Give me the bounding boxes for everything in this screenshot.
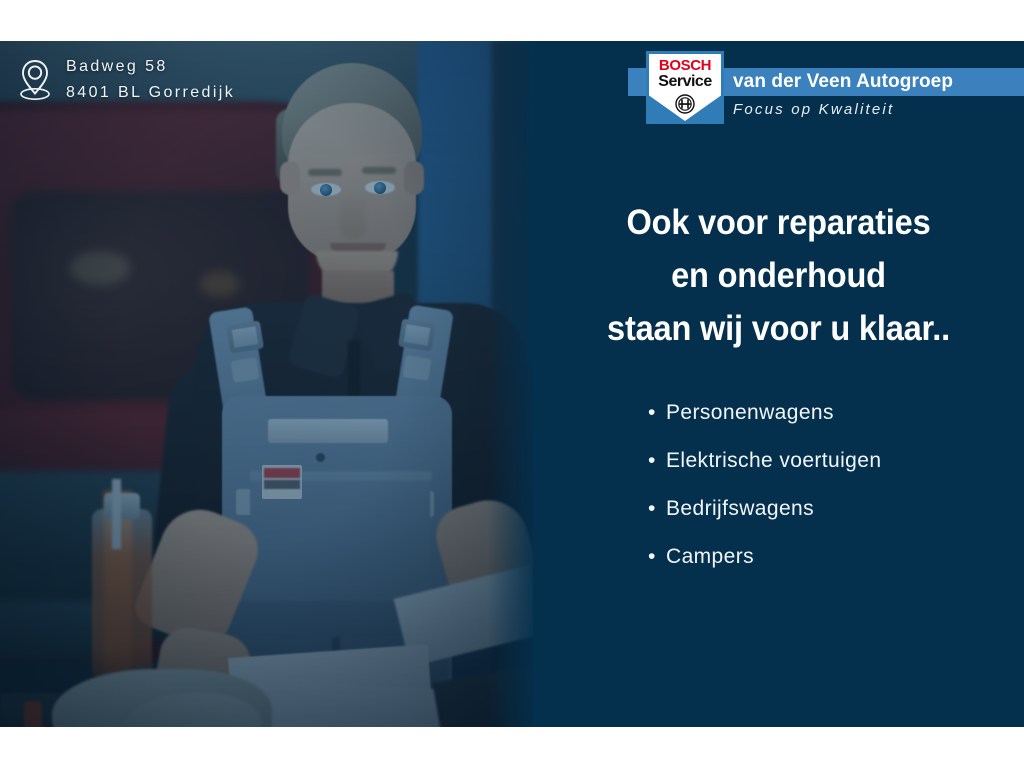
photo-right-fade [487,41,533,727]
address-line-2: 8401 BL Gorredijk [66,80,235,106]
service-label: Personenwagens [666,401,834,424]
brand-header: BOSCH Service van der Veen Autogroep Foc… [533,41,1024,133]
location-pin-icon [18,58,52,102]
bosch-wordmark: BOSCH [649,57,721,74]
services-list: •Personenwagens •Elektrische voertuigen … [648,389,881,581]
list-item: •Elektrische voertuigen [648,437,881,485]
headline-line-2: en onderhoud [550,249,1007,302]
bosch-armature-icon [675,94,695,114]
headline-line-1: Ook voor reparaties [550,196,1007,249]
list-item: •Bedrijfswagens [648,485,881,533]
service-label: Bedrijfswagens [666,497,814,520]
company-tagline: Focus op Kwaliteit [733,99,894,121]
service-label: Elektrische voertuigen [666,449,881,472]
bullet-icon: • [648,533,666,581]
address-block: Badweg 58 8401 BL Gorredijk [18,54,235,106]
headline-line-3: staan wij voor u klaar.. [550,302,1007,355]
address-lines: Badweg 58 8401 BL Gorredijk [66,54,235,106]
photo-vignette [0,41,533,727]
promo-banner: Badweg 58 8401 BL Gorredijk BOSCH Servic… [0,41,1024,727]
list-item: •Campers [648,533,881,581]
service-label: Campers [666,545,754,568]
bullet-icon: • [648,437,666,485]
bullet-icon: • [648,389,666,437]
company-name: van der Veen Autogroep [733,69,953,95]
headline: Ook voor reparaties en onderhoud staan w… [550,196,1007,355]
info-panel: BOSCH Service van der Veen Autogroep Foc… [533,41,1024,727]
banner-stage: Badweg 58 8401 BL Gorredijk BOSCH Servic… [0,0,1024,768]
bosch-service-text: Service [649,73,721,91]
list-item: •Personenwagens [648,389,881,437]
bosch-service-logo: BOSCH Service [646,51,724,124]
address-line-1: Badweg 58 [66,54,235,80]
mechanic-photo [0,41,533,727]
bullet-icon: • [648,485,666,533]
